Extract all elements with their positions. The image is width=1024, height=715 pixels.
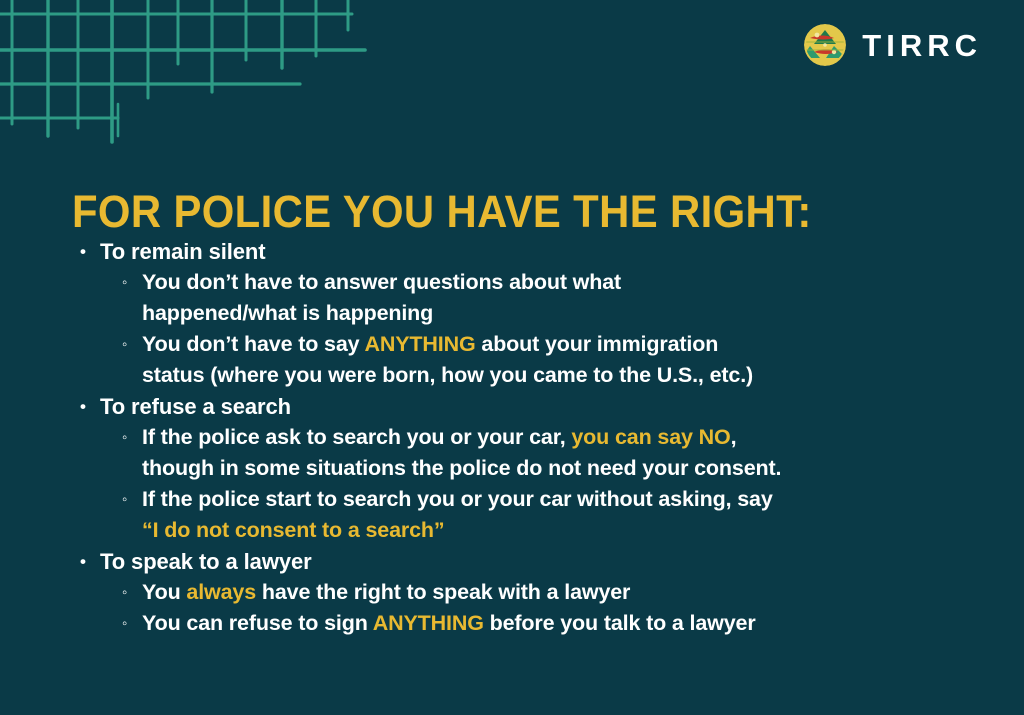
body-text: You don’t have to say [142,332,364,356]
sub-point-line: You always have the right to speak with … [142,577,992,608]
page-title: FOR POLICE YOU HAVE THE RIGHT: [72,188,812,235]
sub-point-line: You don’t have to answer questions about… [142,267,992,298]
bullet-level1-icon: • [80,236,86,267]
section-heading-text: To remain silent [100,239,265,264]
bullet-level2-icon: ◦ [122,484,127,515]
bullet-level2-icon: ◦ [122,577,127,608]
tirrc-globe-logo-icon [804,24,846,66]
sub-point-line: You can refuse to sign ANYTHING before y… [142,608,992,639]
section-heading: •To remain silent [72,236,992,267]
highlighted-text: you can say NO [571,425,730,449]
rights-sub-point: ◦You don’t have to answer questions abou… [72,267,992,329]
body-text: have the right to speak with a lawyer [256,580,630,604]
rights-section: •To refuse a search◦If the police ask to… [72,391,992,546]
section-heading: •To speak to a lawyer [72,546,992,577]
highlighted-text: ANYTHING [364,332,475,356]
highlighted-text: ANYTHING [373,611,484,635]
body-text: If the police start to search you or you… [142,487,773,511]
rights-sub-point: ◦You always have the right to speak with… [72,577,992,608]
section-heading-text: To refuse a search [100,394,291,419]
highlighted-text: “I do not consent to a search” [142,518,445,542]
body-text: happened/what is happening [142,301,433,325]
body-text: before you talk to a lawyer [484,611,756,635]
body-text: You can refuse to sign [142,611,373,635]
sub-point-line: You don’t have to say ANYTHING about you… [142,329,992,360]
section-heading: •To refuse a search [72,391,992,422]
body-text: , [731,425,737,449]
rights-sub-point: ◦You don’t have to say ANYTHING about yo… [72,329,992,391]
brand-logo-block: TIRRC [804,24,982,66]
body-text: You don’t have to answer questions about… [142,270,621,294]
bullet-level2-icon: ◦ [122,422,127,453]
body-text: though in some situations the police do … [142,456,781,480]
rights-section: •To remain silent◦You don’t have to answ… [72,236,992,391]
bullet-level1-icon: • [80,391,86,422]
sub-point-line: though in some situations the police do … [142,453,992,484]
sub-point-line: status (where you were born, how you cam… [142,360,992,391]
bullet-level2-icon: ◦ [122,329,127,360]
rights-sub-point: ◦If the police start to search you or yo… [72,484,992,546]
section-heading-text: To speak to a lawyer [100,549,312,574]
sub-point-line: “I do not consent to a search” [142,515,992,546]
sub-point-line: If the police ask to search you or your … [142,422,992,453]
rights-sub-point: ◦If the police ask to search you or your… [72,422,992,484]
rights-section: •To speak to a lawyer◦You always have th… [72,546,992,639]
body-text: You [142,580,186,604]
body-text: If the police ask to search you or your … [142,425,571,449]
rights-sub-point: ◦You can refuse to sign ANYTHING before … [72,608,992,639]
sub-point-line: If the police start to search you or you… [142,484,992,515]
slide-canvas: TIRRC FOR POLICE YOU HAVE THE RIGHT: •To… [0,0,1024,715]
highlighted-text: always [186,580,256,604]
bullet-level1-icon: • [80,546,86,577]
bullet-level2-icon: ◦ [122,608,127,639]
bullet-level2-icon: ◦ [122,267,127,298]
body-text: status (where you were born, how you cam… [142,363,753,387]
grid-decoration-graphic [0,0,400,150]
sub-point-line: happened/what is happening [142,298,992,329]
brand-wordmark: TIRRC [862,30,982,61]
body-text: about your immigration [476,332,719,356]
rights-list: •To remain silent◦You don’t have to answ… [72,236,992,639]
